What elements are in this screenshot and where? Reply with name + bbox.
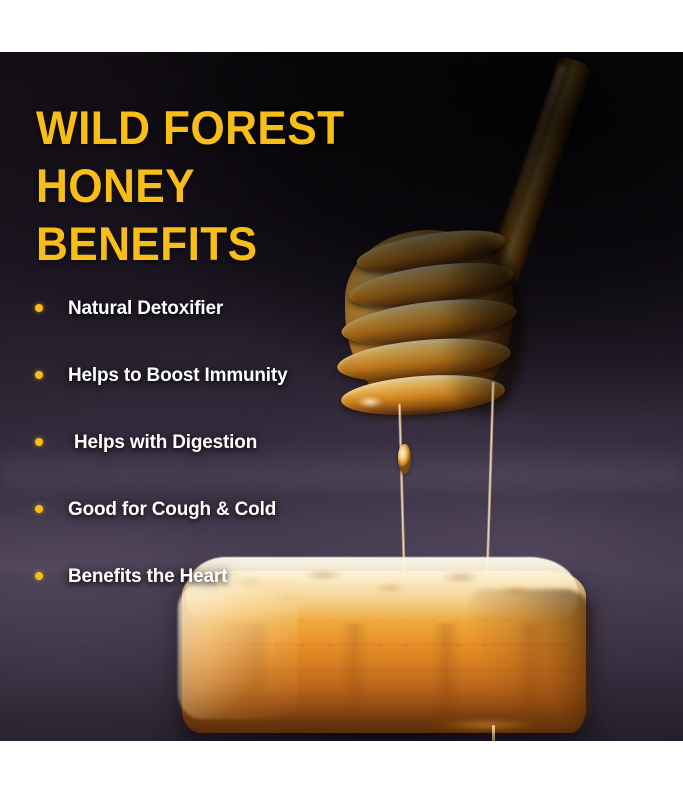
list-item: Natural Detoxifier (30, 274, 380, 341)
bullet-dot-icon (35, 505, 43, 513)
benefit-label: Natural Detoxifier (68, 297, 223, 319)
bullet-dot-icon (35, 371, 43, 379)
product-photo: WILD FOREST HONEY BENEFITS Natural Detox… (0, 52, 683, 741)
headline-line-2: HONEY (36, 157, 412, 215)
headline-line-1: WILD FOREST (36, 99, 412, 157)
benefit-label: Helps with Digestion (74, 431, 257, 453)
list-item: Helps to Boost Immunity (30, 341, 380, 408)
letterbox-band-bottom (0, 741, 683, 800)
bullet-dot-icon (35, 572, 43, 580)
letterbox-band-top (0, 0, 683, 52)
list-item: Helps with Digestion (30, 408, 380, 475)
honey-benefits-poster: WILD FOREST HONEY BENEFITS Natural Detox… (0, 0, 683, 800)
bullet-dot-icon (35, 304, 43, 312)
poster-text-layer: WILD FOREST HONEY BENEFITS Natural Detox… (0, 52, 683, 741)
benefit-label: Benefits the Heart (68, 565, 227, 587)
list-item: Benefits the Heart (30, 542, 380, 609)
page-title: WILD FOREST HONEY BENEFITS (36, 99, 412, 273)
benefit-label: Good for Cough & Cold (68, 498, 276, 520)
benefit-label: Helps to Boost Immunity (68, 364, 287, 386)
headline-line-3: BENEFITS (36, 215, 412, 273)
benefits-list: Natural Detoxifier Helps to Boost Immuni… (30, 274, 380, 609)
list-item: Good for Cough & Cold (30, 475, 380, 542)
bullet-dot-icon (35, 438, 43, 446)
